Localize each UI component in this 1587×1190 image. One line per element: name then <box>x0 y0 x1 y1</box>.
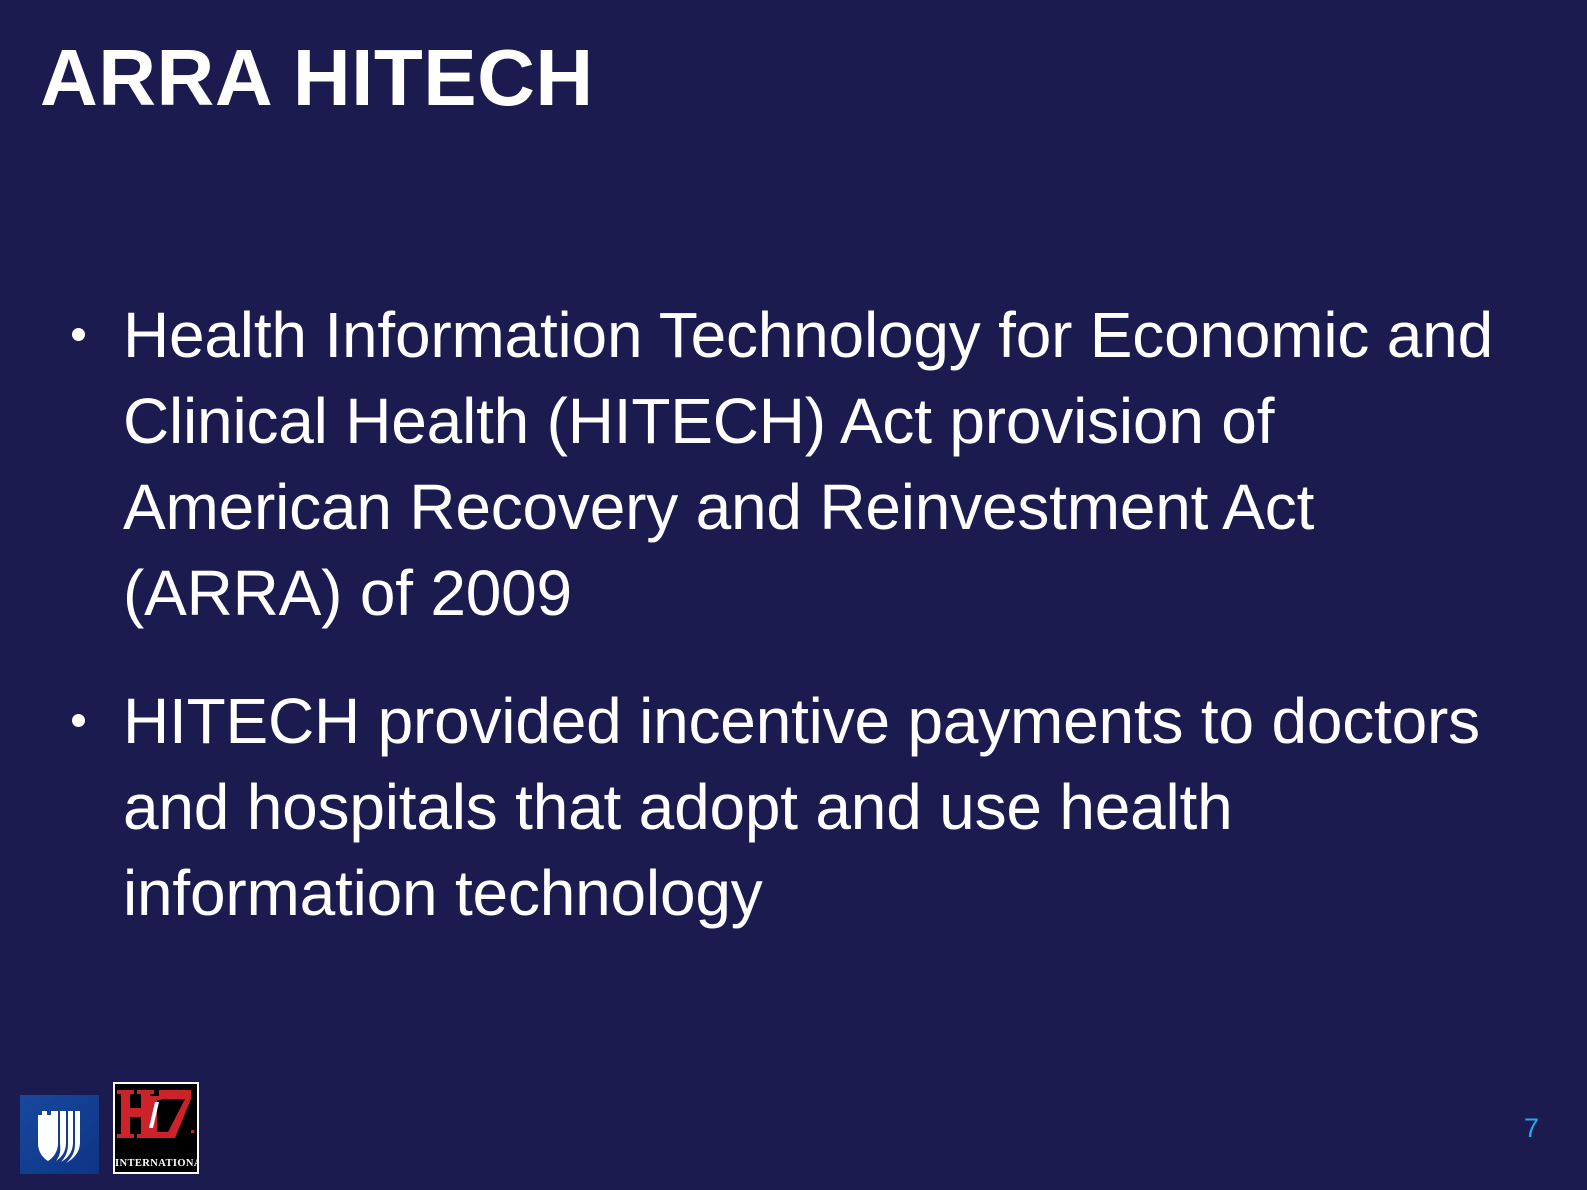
bullet-text: Health Information Technology for Econom… <box>123 292 1546 636</box>
hl7-international-logo: INTERNATIONAL <box>113 1082 199 1174</box>
hl7-wordmark-icon <box>115 1084 197 1150</box>
bullet-point-icon <box>56 678 123 764</box>
hl7-caption: INTERNATIONAL <box>115 1157 197 1170</box>
duke-shield-logo <box>20 1095 99 1174</box>
list-item: HITECH provided incentive payments to do… <box>56 678 1546 936</box>
bullet-point-icon <box>56 292 123 378</box>
page-title: ARRA HITECH <box>40 38 1520 118</box>
bullet-list: Health Information Technology for Econom… <box>56 292 1546 936</box>
list-item: Health Information Technology for Econom… <box>56 292 1546 636</box>
slide-canvas: ARRA HITECH Health Information Technolog… <box>0 0 1587 1190</box>
page-number: 7 <box>1524 1115 1539 1142</box>
bullet-text: HITECH provided incentive payments to do… <box>123 678 1546 936</box>
footer-logo-strip: INTERNATIONAL <box>20 1082 199 1174</box>
